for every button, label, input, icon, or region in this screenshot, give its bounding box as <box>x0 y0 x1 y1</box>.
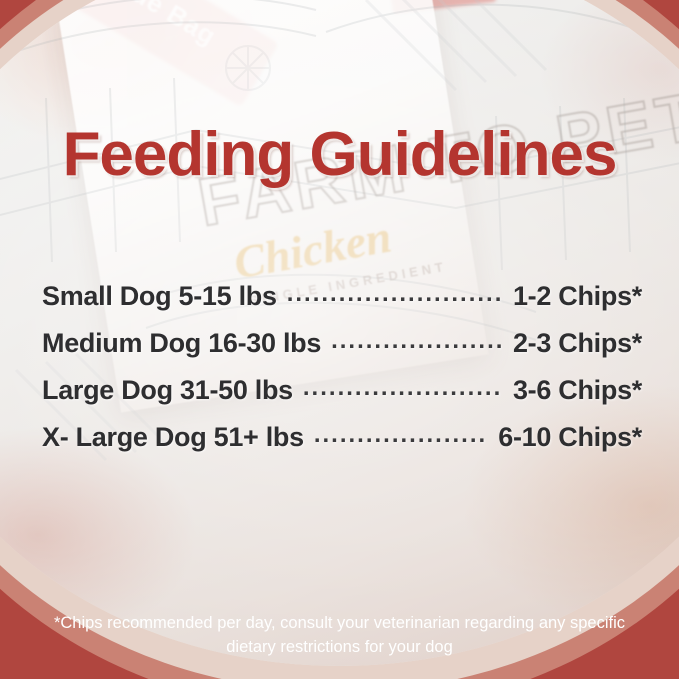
table-row: Medium Dog 16-30 lbs ...................… <box>42 328 642 375</box>
table-row: X- Large Dog 51+ lbs ...................… <box>42 422 642 469</box>
row-label: Small Dog 5-15 lbs <box>42 281 277 312</box>
table-row: Small Dog 5-15 lbs .....................… <box>42 281 642 328</box>
row-label: Large Dog 31-50 lbs <box>42 375 293 406</box>
footer-disclaimer: *Chips recommended per day, consult your… <box>0 593 679 679</box>
dot-leader: ........................................… <box>287 280 503 308</box>
feeding-guidelines-table: Small Dog 5-15 lbs .....................… <box>42 281 642 469</box>
row-label: X- Large Dog 51+ lbs <box>42 422 304 453</box>
row-label: Medium Dog 16-30 lbs <box>42 328 321 359</box>
dot-leader: ........................................… <box>303 374 503 402</box>
row-amount: 2-3 Chips* <box>513 328 642 359</box>
row-amount: 6-10 Chips* <box>498 422 642 453</box>
dot-leader: ........................................… <box>314 421 488 449</box>
dot-leader: ........................................… <box>331 327 503 355</box>
row-amount: 1-2 Chips* <box>513 281 642 312</box>
page-title: Feeding Guidelines <box>0 119 679 190</box>
row-amount: 3-6 Chips* <box>513 375 642 406</box>
table-row: Large Dog 31-50 lbs ....................… <box>42 375 642 422</box>
footer-disclaimer-text: *Chips recommended per day, consult your… <box>0 612 679 660</box>
poster-content: Feeding Guidelines Small Dog 5-15 lbs ..… <box>0 0 679 679</box>
feeding-guidelines-poster: NEW Value Bag NEW <box>0 0 679 679</box>
